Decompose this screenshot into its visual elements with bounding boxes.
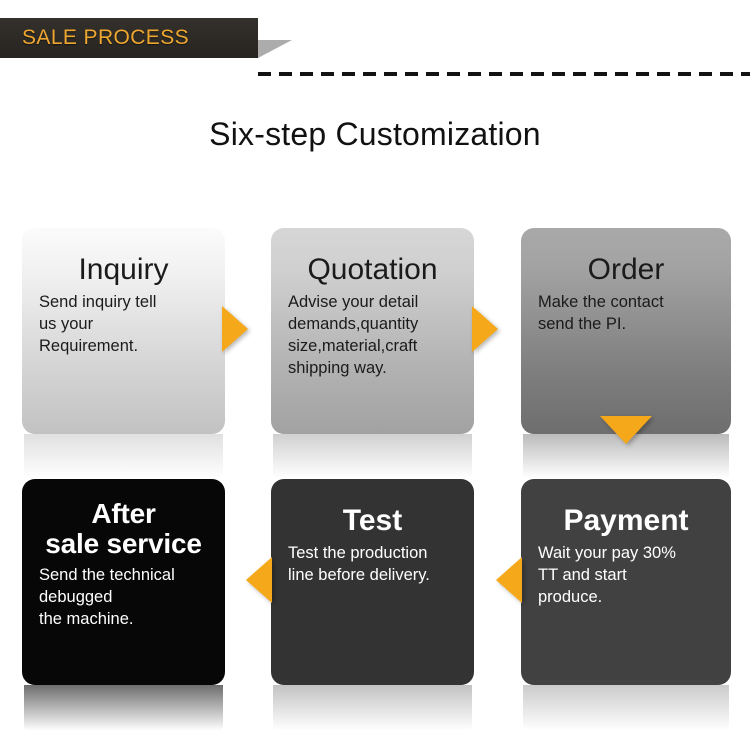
step-body-after-sale-service: Send the technical debugged the machine. [34, 565, 213, 631]
step-title-payment: Payment [533, 505, 719, 537]
step-card-quotation[interactable]: Quotation Advise your detail demands,qua… [271, 228, 474, 434]
card-content: Inquiry Send inquiry tell us your Requir… [34, 254, 213, 452]
step-body-order: Make the contact send the PI. [533, 292, 719, 336]
steps-grid: Inquiry Send inquiry tell us your Requir… [0, 228, 750, 685]
card-content: Quotation Advise your detail demands,qua… [283, 254, 462, 452]
step-body-payment: Wait your pay 30% TT and start produce. [533, 543, 719, 609]
banner-label: SALE PROCESS [22, 26, 189, 50]
card-content: After sale service Send the technical de… [34, 499, 213, 697]
banner-fold-shadow [258, 40, 292, 58]
step-title-test: Test [283, 505, 462, 537]
dashed-divider-line [258, 72, 750, 76]
step-title-quotation: Quotation [283, 254, 462, 286]
sale-process-infographic: SALE PROCESS Six-step Customization Inqu… [0, 0, 750, 745]
arrow-right-icon [222, 306, 248, 352]
step-title-after-sale-service: After sale service [34, 499, 213, 559]
step-body-quotation: Advise your detail demands,quantity size… [283, 292, 462, 380]
step-body-test: Test the production line before delivery… [283, 543, 462, 587]
header-banner: SALE PROCESS [0, 18, 750, 58]
step-card-payment[interactable]: Payment Wait your pay 30% TT and start p… [521, 479, 731, 685]
banner-tab: SALE PROCESS [0, 18, 258, 58]
step-card-order[interactable]: Order Make the contact send the PI. [521, 228, 731, 434]
arrow-right-icon [472, 306, 498, 352]
steps-row-top: Inquiry Send inquiry tell us your Requir… [0, 228, 750, 434]
step-card-inquiry[interactable]: Inquiry Send inquiry tell us your Requir… [22, 228, 225, 434]
card-content: Payment Wait your pay 30% TT and start p… [533, 505, 719, 703]
step-title-order: Order [533, 254, 719, 286]
card-content: Test Test the production line before del… [283, 505, 462, 703]
step-body-inquiry: Send inquiry tell us your Requirement. [34, 292, 213, 358]
steps-row-bottom: After sale service Send the technical de… [0, 479, 750, 685]
arrow-down-icon [600, 416, 652, 444]
arrow-left-icon [246, 557, 272, 603]
step-title-inquiry: Inquiry [34, 254, 213, 286]
arrow-left-icon [496, 557, 522, 603]
page-title: Six-step Customization [0, 116, 750, 153]
step-card-after-sale-service[interactable]: After sale service Send the technical de… [22, 479, 225, 685]
step-card-test[interactable]: Test Test the production line before del… [271, 479, 474, 685]
